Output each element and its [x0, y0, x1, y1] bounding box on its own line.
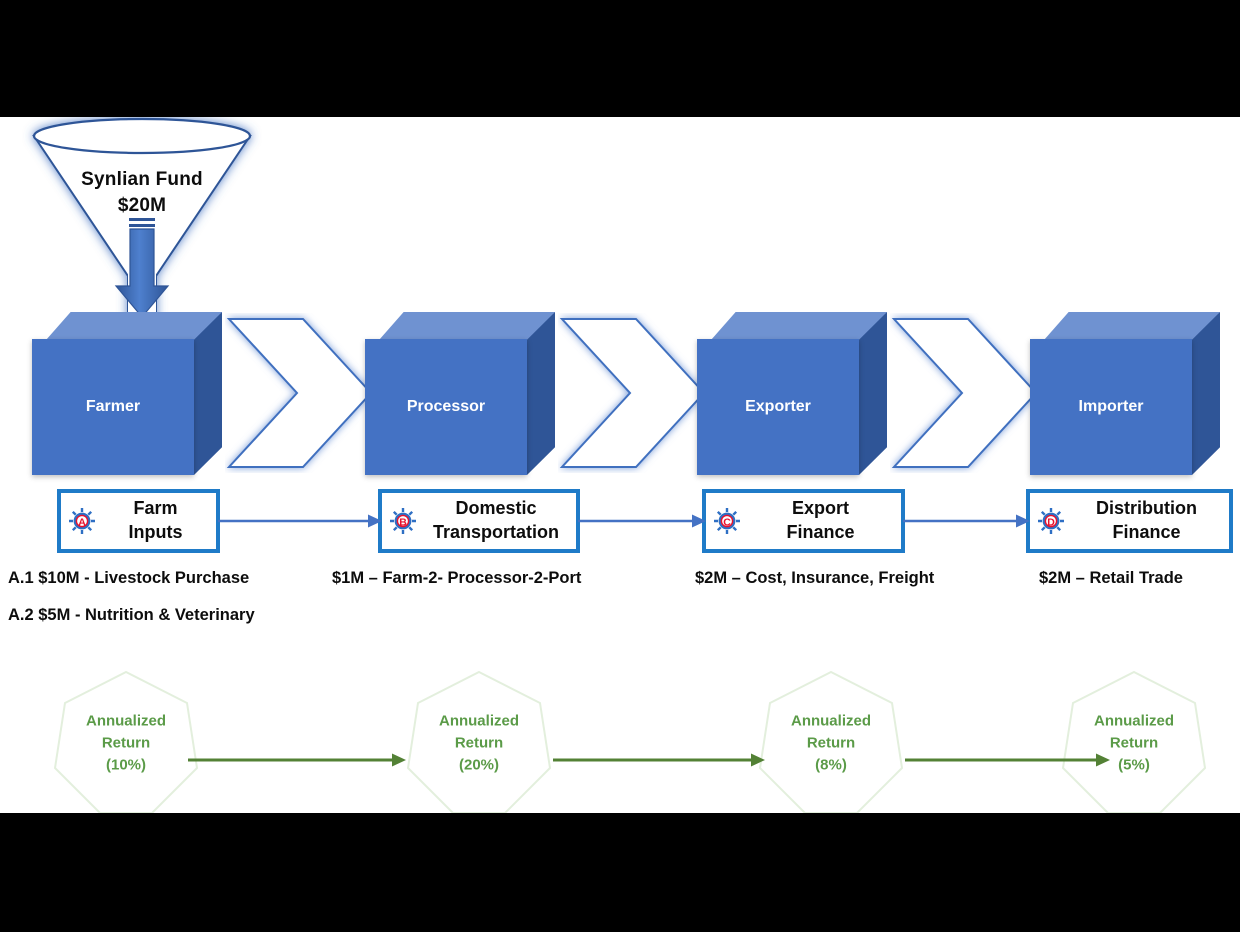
cube-top-face — [1044, 312, 1220, 340]
gear-letter: C — [723, 516, 731, 528]
funnel-icon — [22, 117, 262, 339]
activity-label-line2: Inputs — [101, 521, 210, 545]
activity-connector-2 — [578, 513, 706, 529]
cube-top-face — [46, 312, 222, 340]
activity-label: Farm Inputs — [101, 497, 216, 545]
return-line2: Return — [52, 732, 200, 754]
stage-label: Importer — [1030, 398, 1192, 416]
cube-side-face — [527, 312, 555, 475]
return-label: Annualized Return (10%) — [52, 710, 200, 775]
return-heptagon-2: Annualized Return (20%) — [405, 669, 553, 813]
return-value: (8%) — [757, 754, 905, 776]
return-heptagon-1: Annualized Return (10%) — [52, 669, 200, 813]
cube-front-face: Exporter — [697, 339, 859, 475]
stage-cube-exporter[interactable]: Exporter — [697, 312, 887, 447]
activity-label-line1: Domestic — [422, 497, 570, 521]
funnel-group: Synlian Fund $20M — [22, 117, 262, 339]
chevron-arrow-2 — [558, 313, 708, 473]
cube-front-face: Importer — [1030, 339, 1192, 475]
return-value: (10%) — [52, 754, 200, 776]
gear-icon-d: D — [1036, 506, 1066, 536]
cube-side-face — [859, 312, 887, 475]
stage-label: Exporter — [697, 398, 859, 416]
activity-box-export-finance[interactable]: C Export Finance — [702, 489, 905, 553]
cube-side-face — [1192, 312, 1220, 475]
gear-icon-a: A — [67, 506, 97, 536]
cube-front-face: Farmer — [32, 339, 194, 475]
return-arrow-2 — [553, 753, 765, 767]
chevron-arrow-1 — [225, 313, 375, 473]
activity-connector-1 — [218, 513, 382, 529]
return-line1: Annualized — [757, 710, 905, 732]
caption-a2: A.2 $5M - Nutrition & Veterinary — [8, 606, 255, 625]
return-line1: Annualized — [405, 710, 553, 732]
return-label: Annualized Return (20%) — [405, 710, 553, 775]
caption-a1: A.1 $10M - Livestock Purchase — [8, 569, 249, 588]
cube-top-face — [379, 312, 555, 340]
return-line2: Return — [405, 732, 553, 754]
activity-connector-3 — [903, 513, 1030, 529]
chevron-arrow-3 — [890, 313, 1040, 473]
return-heptagon-3: Annualized Return (8%) — [757, 669, 905, 813]
stage-cube-processor[interactable]: Processor — [365, 312, 555, 447]
stage-label: Farmer — [32, 398, 194, 416]
activity-label-line1: Distribution — [1070, 497, 1223, 521]
stage-cube-farmer[interactable]: Farmer — [32, 312, 222, 447]
gear-letter: D — [1047, 516, 1055, 528]
activity-box-domestic-transportation[interactable]: B Domestic Transportation — [378, 489, 580, 553]
return-line2: Return — [1060, 732, 1208, 754]
return-line1: Annualized — [52, 710, 200, 732]
stage-label: Processor — [365, 398, 527, 416]
diagram-canvas: Synlian Fund $20M — [0, 117, 1240, 813]
return-arrow-1 — [188, 753, 406, 767]
activity-label-line2: Finance — [1070, 521, 1223, 545]
return-arrow-3 — [905, 753, 1110, 767]
return-line1: Annualized — [1060, 710, 1208, 732]
cube-side-face — [194, 312, 222, 475]
return-line2: Return — [757, 732, 905, 754]
activity-box-distribution-finance[interactable]: D Distribution Finance — [1026, 489, 1233, 553]
caption-c: $2M – Cost, Insurance, Freight — [695, 569, 934, 588]
activity-label: Distribution Finance — [1070, 497, 1229, 545]
return-value: (20%) — [405, 754, 553, 776]
activity-label-line1: Farm — [101, 497, 210, 521]
funnel-fund-amount: $20M — [22, 193, 262, 219]
caption-b: $1M – Farm-2- Processor-2-Port — [332, 569, 581, 588]
activity-label-line1: Export — [746, 497, 895, 521]
return-label: Annualized Return (8%) — [757, 710, 905, 775]
gear-icon-b: B — [388, 506, 418, 536]
cube-top-face — [711, 312, 887, 340]
activity-box-farm-inputs[interactable]: A Farm Inputs — [57, 489, 220, 553]
funnel-fund-name: Synlian Fund — [22, 167, 262, 193]
funnel-label: Synlian Fund $20M — [22, 167, 262, 218]
caption-d: $2M – Retail Trade — [1039, 569, 1183, 588]
activity-label: Export Finance — [746, 497, 901, 545]
gear-icon-c: C — [712, 506, 742, 536]
gear-letter: B — [399, 516, 407, 528]
activity-label: Domestic Transportation — [422, 497, 576, 545]
slide-letterbox: Synlian Fund $20M — [0, 0, 1240, 932]
cube-front-face: Processor — [365, 339, 527, 475]
activity-label-line2: Finance — [746, 521, 895, 545]
return-heptagon-4: Annualized Return (5%) — [1060, 669, 1208, 813]
stage-cube-importer[interactable]: Importer — [1030, 312, 1220, 447]
activity-label-line2: Transportation — [422, 521, 570, 545]
gear-letter: A — [78, 516, 86, 528]
